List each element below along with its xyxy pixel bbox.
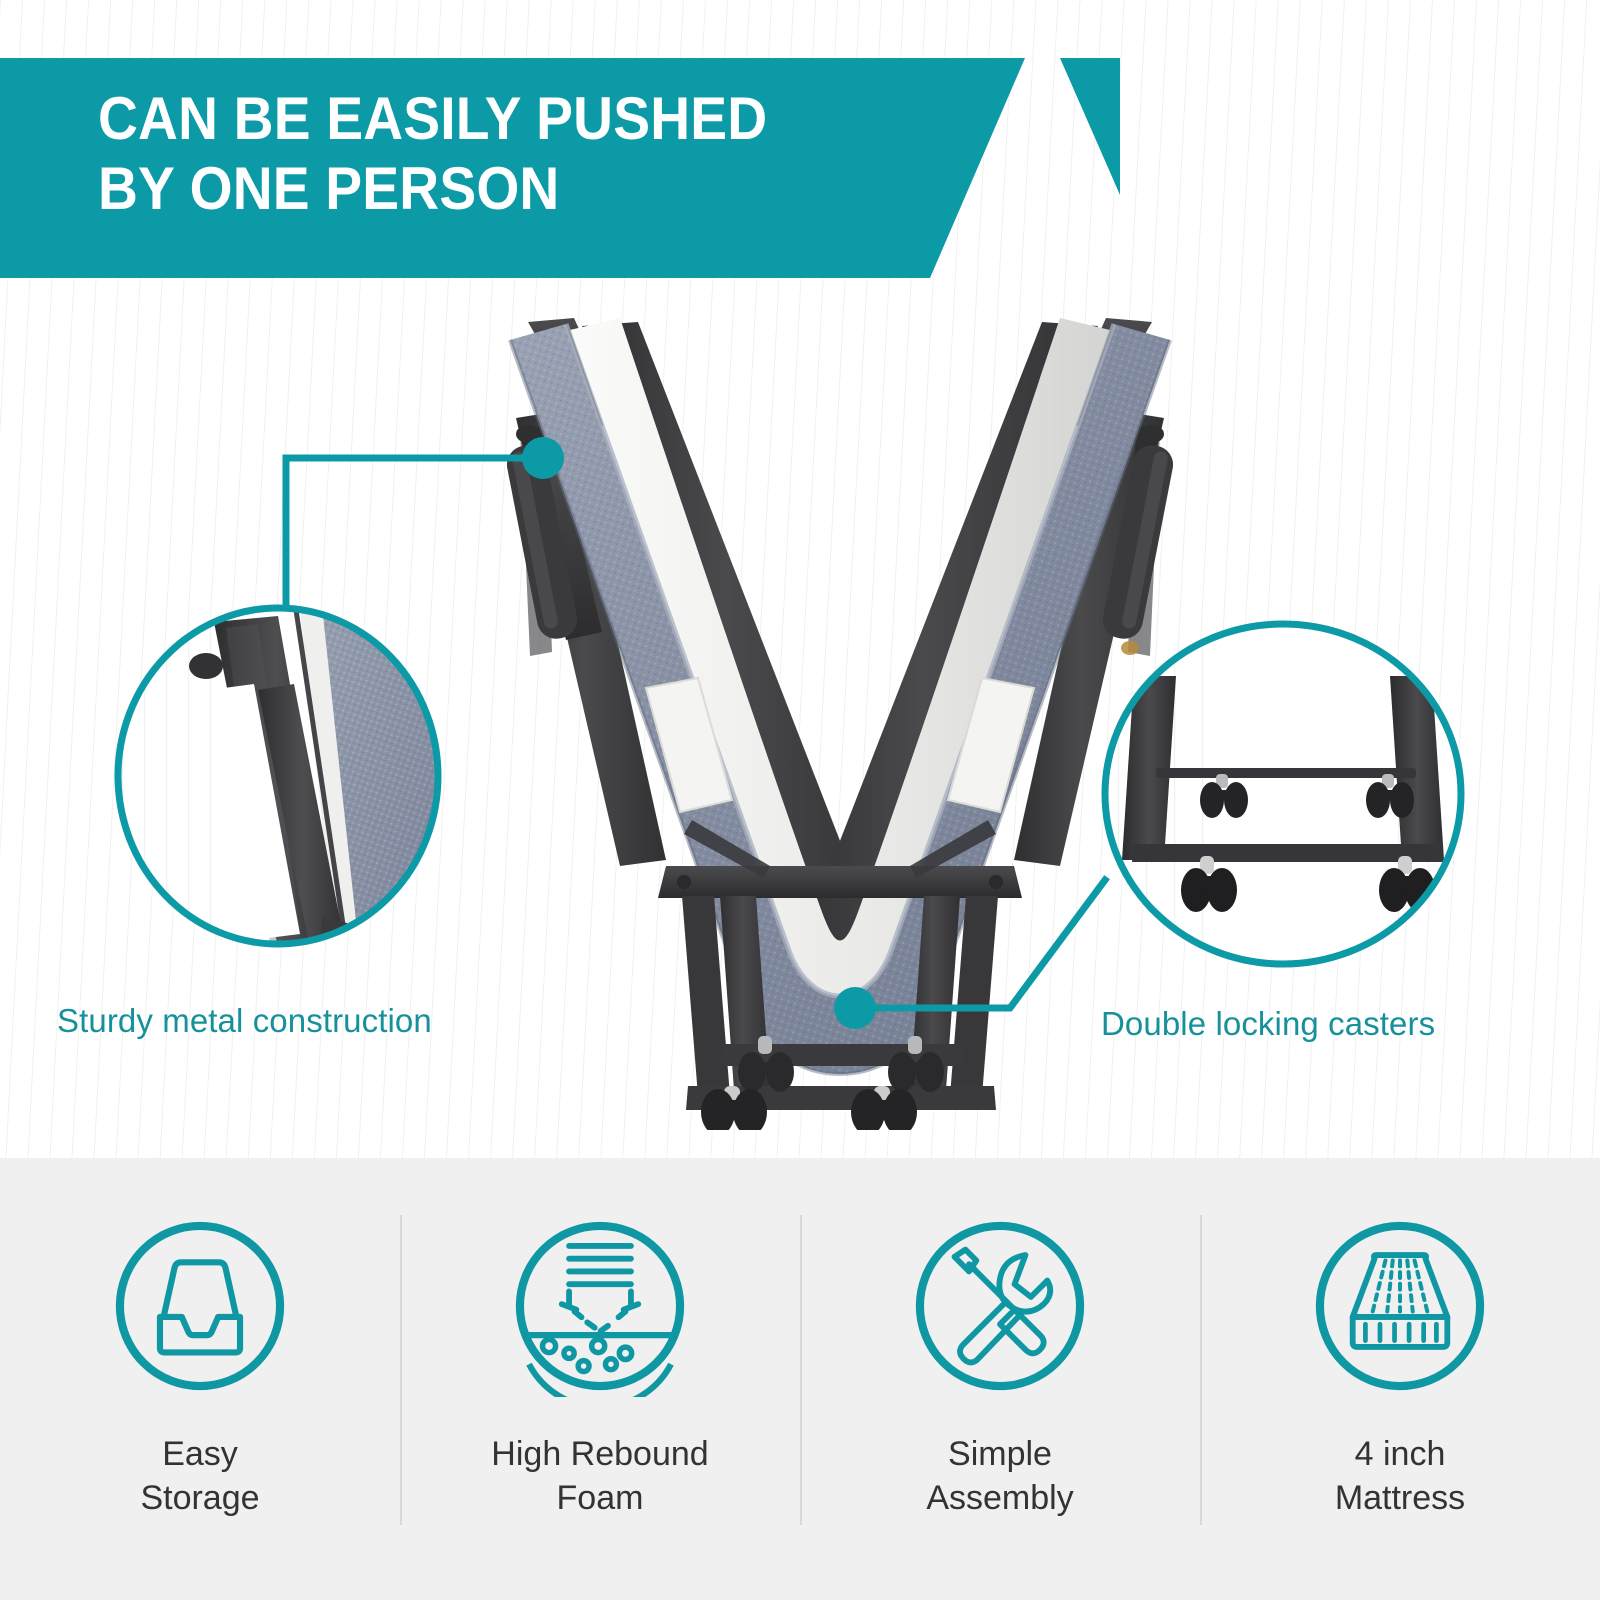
feature-easy-storage: Easy Storage (0, 1158, 400, 1600)
headline-line-2: BY ONE PERSON (98, 154, 926, 224)
headline-banner: CAN BE EASILY PUSHED BY ONE PERSON (0, 58, 1120, 278)
storage-tray-icon (109, 1215, 291, 1397)
velcro-straps (646, 678, 1034, 812)
feature-label-4-inch-mattress: 4 inch Mattress (1335, 1433, 1465, 1520)
mattress-icon (1309, 1215, 1491, 1397)
callout-circle-sturdy-metal-construction (108, 598, 448, 958)
casters-closeup-photo (1098, 618, 1468, 970)
tools-icon (909, 1215, 1091, 1397)
headline-line-1: CAN BE EASILY PUSHED (98, 85, 767, 152)
feature-label-simple-assembly: Simple Assembly (926, 1433, 1073, 1520)
feature-label-high-rebound-foam: High Rebound Foam (491, 1433, 708, 1520)
headline-text: CAN BE EASILY PUSHED BY ONE PERSON (98, 84, 926, 224)
callout-circle-double-locking-casters (1098, 618, 1468, 970)
banner-wedge-shape (1060, 58, 1120, 195)
infographic-root: Sturdy metal construction Double locking… (0, 0, 1600, 1600)
feature-strip: Easy Storage (0, 1158, 1600, 1600)
hero-section: Sturdy metal construction Double locking… (0, 0, 1600, 1158)
callout-label-double-locking-casters: Double locking casters (1101, 1005, 1435, 1043)
rebound-foam-icon (509, 1215, 691, 1397)
callout-label-sturdy-metal-construction: Sturdy metal construction (57, 1002, 432, 1040)
feature-simple-assembly: Simple Assembly (800, 1158, 1200, 1600)
feature-4-inch-mattress: 4 inch Mattress (1200, 1158, 1600, 1600)
feature-label-easy-storage: Easy Storage (140, 1433, 259, 1520)
metal-frame-closeup-photo (108, 598, 448, 958)
feature-high-rebound-foam: High Rebound Foam (400, 1158, 800, 1600)
